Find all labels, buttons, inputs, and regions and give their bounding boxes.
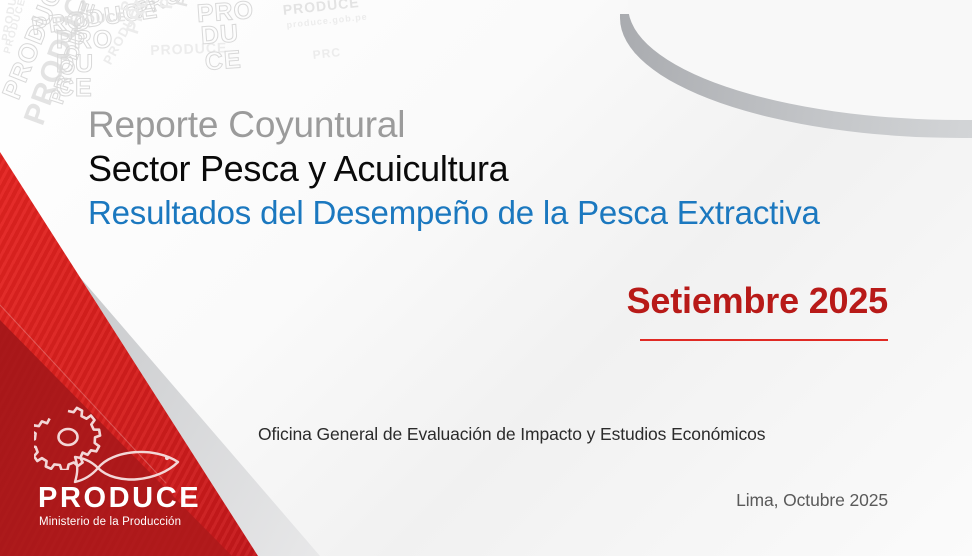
produce-logo: PRODUCE Ministerio de la Producción — [22, 404, 212, 528]
page-subtitle: Resultados del Desempeño de la Pesca Ext… — [88, 193, 820, 233]
watermark-word: PRODUCE — [130, 0, 248, 24]
watermark-word: PRODUCE — [150, 39, 228, 58]
watermark-word: PRO — [56, 26, 113, 55]
watermark-word: PRODUCE — [54, 9, 127, 29]
watermark-word: PRODUCE — [46, 0, 101, 107]
date-block: Setiembre 2025 — [627, 283, 888, 341]
issuing-office: Oficina General de Evaluación de Impacto… — [258, 424, 765, 445]
watermark-word: DU — [200, 19, 240, 51]
publication-place-date: Lima, Octubre 2025 — [736, 490, 888, 511]
logo-subtitle: Ministerio de la Producción — [22, 516, 212, 528]
watermark-word: produce.gob.pe — [286, 11, 368, 29]
watermark-word: PRODUCE — [118, 0, 154, 14]
report-kicker: Reporte Coyuntural — [88, 104, 820, 145]
watermark-word: PRO — [122, 0, 155, 36]
watermark-word: PRODUCE — [30, 0, 160, 42]
title-block: Reporte Coyuntural Sector Pesca y Acuicu… — [88, 104, 820, 233]
page-title: Sector Pesca y Acuicultura — [88, 147, 820, 190]
watermark-word: CE — [204, 45, 243, 76]
watermark-word: PRODUCE — [100, 0, 147, 67]
logo-marks — [22, 404, 212, 486]
watermark-word: PR — [156, 0, 180, 10]
date-divider — [640, 339, 888, 341]
watermark-word: PRC — [312, 45, 342, 62]
watermark-word: PRO — [196, 0, 255, 29]
report-month: Setiembre 2025 — [627, 283, 888, 319]
watermark-word: PRODUCE — [282, 0, 360, 18]
watermark-word: PRODUCE — [172, 0, 214, 9]
watermark-word: CE — [56, 74, 93, 103]
watermark-word: PRODUCE — [0, 0, 23, 42]
watermark-word: PRODUCE — [2, 0, 28, 55]
watermark-word: DU — [56, 50, 94, 79]
slide-root: PRODUCEPRODUCEPRODUCEPRODUCEPRODUCEPRODU… — [0, 0, 972, 556]
watermark-word: PRODUCE — [0, 0, 76, 104]
fish-icon — [72, 442, 190, 495]
